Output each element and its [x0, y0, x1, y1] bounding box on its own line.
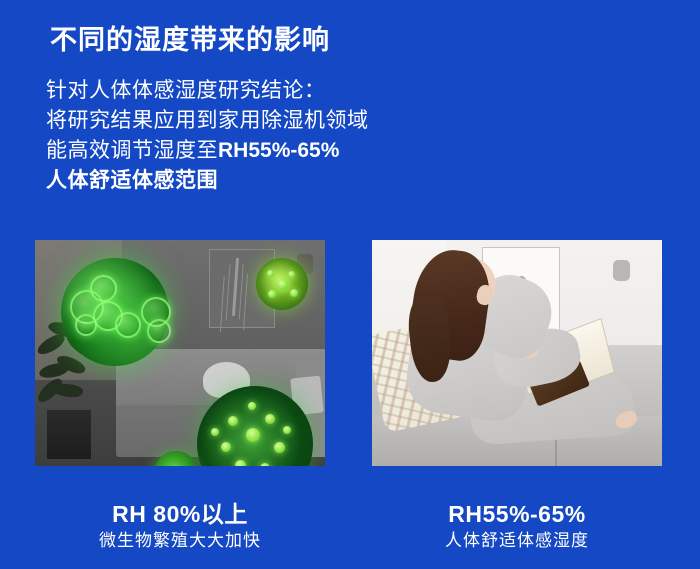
body-line-3-text: 能高效调节湿度至 — [46, 139, 218, 162]
germ-nodule — [248, 402, 256, 410]
germ-nodule — [235, 460, 246, 466]
germ-nodule — [246, 428, 260, 442]
caption-title: RH55%-65% — [372, 500, 662, 528]
germ-blob — [147, 319, 171, 343]
body-copy: 针对人体体感湿度研究结论： 将研究结果应用到家用除湿机领域 能高效调节湿度至RH… — [46, 76, 369, 196]
germ-nodule — [288, 271, 295, 278]
woman-reading — [395, 254, 644, 448]
page-title: 不同的湿度带来的影响 — [50, 18, 330, 57]
caption-subtitle: 人体舒适体感湿度 — [372, 528, 662, 554]
bright-living-room-scene — [372, 240, 662, 466]
body-line-1: 针对人体体感湿度研究结论： — [46, 76, 369, 106]
germ-nodule — [265, 414, 275, 424]
body-line-4: 人体舒适体感范围 — [46, 166, 369, 196]
germ-nodule — [260, 463, 270, 466]
germ-nodule — [290, 289, 298, 297]
panel-high-humidity-image — [35, 240, 325, 466]
germ-nodule — [228, 416, 238, 426]
body-line-2: 将研究结果应用到家用除湿机领域 — [46, 106, 369, 136]
germ-sphere-large — [61, 258, 169, 366]
germ-nodule — [267, 270, 274, 277]
germ-nodule — [221, 442, 231, 452]
caption-subtitle: 微生物繁殖大大加快 — [35, 528, 325, 554]
panel-comfort-humidity-image — [372, 240, 662, 466]
germ-blob — [115, 312, 141, 338]
plant-leaf — [52, 382, 84, 400]
germ-nodule — [268, 290, 276, 298]
germ-sphere-small — [256, 258, 308, 310]
caption-comfort-humidity: RH55%-65% 人体舒适体感湿度 — [372, 500, 662, 554]
body-line-3: 能高效调节湿度至RH55%-65% — [46, 136, 369, 166]
body-line-3-highlight: RH55%-65% — [218, 139, 339, 162]
foot — [613, 408, 639, 431]
dark-living-room-scene — [35, 240, 325, 466]
caption-title: RH 80%以上 — [35, 500, 325, 528]
caption-high-humidity: RH 80%以上 微生物繁殖大大加快 — [35, 500, 325, 554]
germ-nodule — [211, 428, 219, 436]
germ-blob — [75, 314, 97, 336]
germ-nodule — [283, 426, 291, 434]
plant-pot — [47, 410, 91, 459]
germ-blob — [90, 275, 117, 302]
germ-nodule — [277, 279, 288, 290]
poster-root: 不同的湿度带来的影响 针对人体体感湿度研究结论： 将研究结果应用到家用除湿机领域… — [0, 0, 700, 569]
germ-nodule — [274, 442, 285, 453]
